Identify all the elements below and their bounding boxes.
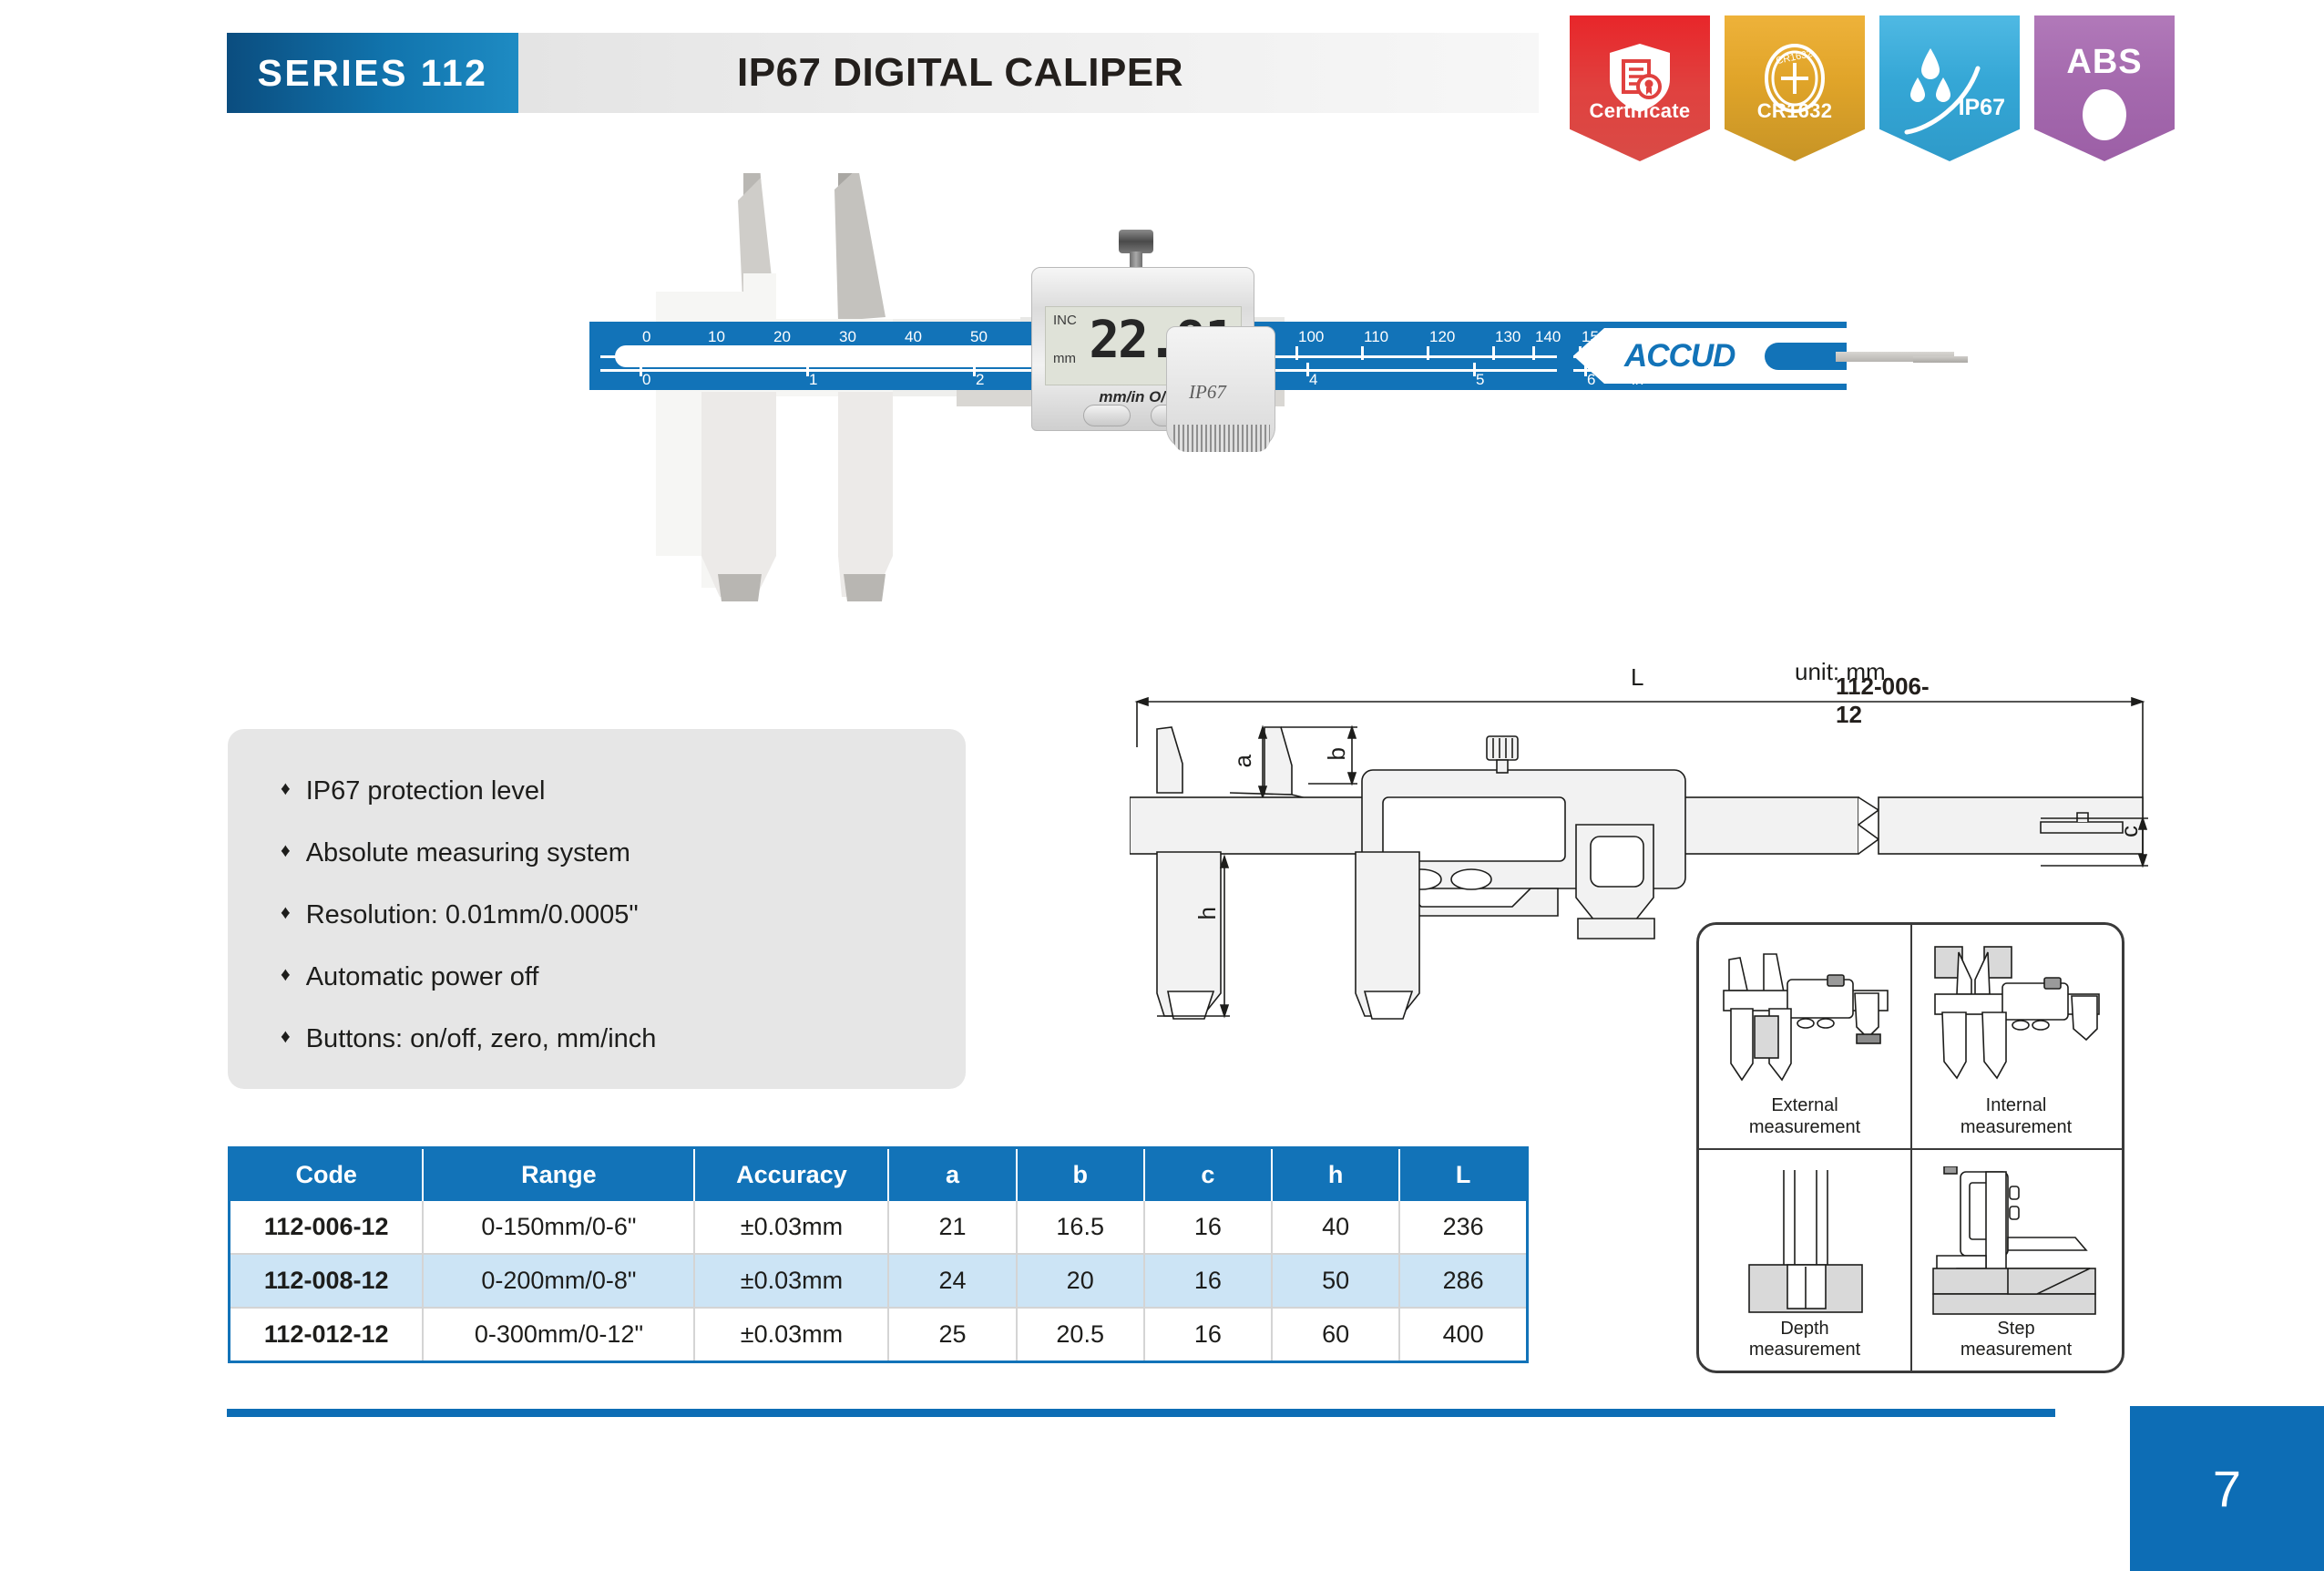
thumb-roller-knurl[interactable] xyxy=(1173,425,1270,452)
internal-measurement: Internalmeasurement xyxy=(1910,925,2122,1148)
accud-brand-plate: ACCUD xyxy=(1573,328,1847,384)
cell-c: 16 xyxy=(1144,1308,1272,1362)
depth-measurement: Depthmeasurement xyxy=(1699,1148,1910,1371)
page-number: 7 xyxy=(2213,1459,2241,1518)
page-number-box: 7 xyxy=(2130,1406,2324,1571)
cell-accuracy: ±0.03mm xyxy=(694,1254,888,1308)
th-b: b xyxy=(1017,1148,1144,1202)
mode-label-depth: Depthmeasurement xyxy=(1749,1319,1860,1361)
dimension-label-h: h xyxy=(1193,907,1222,919)
cell-c: 16 xyxy=(1144,1201,1272,1254)
bullet-diamond-icon: ♦ xyxy=(281,776,291,802)
dimension-label-c: c xyxy=(2115,826,2144,837)
th-L: L xyxy=(1399,1148,1527,1202)
th-h: h xyxy=(1272,1148,1399,1202)
step-measurement: Stepmeasurement xyxy=(1910,1148,2122,1371)
feature-item: ♦ Automatic power off xyxy=(281,962,966,992)
abs-dot-icon xyxy=(2083,89,2126,140)
feature-text: IP67 protection level xyxy=(306,776,546,806)
feature-text: Absolute measuring system xyxy=(306,838,630,868)
th-code: Code xyxy=(230,1148,424,1202)
lcd-unit-indicator: mm xyxy=(1053,351,1076,366)
specification-table: Code Range Accuracy a b c h L 112-006-12… xyxy=(228,1146,1529,1363)
bullet-diamond-icon: ♦ xyxy=(281,962,291,988)
th-range: Range xyxy=(423,1148,694,1202)
cell-b: 20.5 xyxy=(1017,1308,1144,1362)
lock-screw-knob[interactable] xyxy=(1119,230,1153,253)
title-band: IP67 DIGITAL CALIPER xyxy=(518,33,1539,113)
th-a: a xyxy=(888,1148,1016,1202)
badge-label-certificate: Certificate xyxy=(1570,99,1710,123)
cell-L: 400 xyxy=(1399,1308,1527,1362)
cell-L: 286 xyxy=(1399,1254,1527,1308)
badge-certificate: Certificate xyxy=(1570,15,1710,161)
depth-rod-tip xyxy=(1913,356,1968,363)
badge-label-abs: ABS xyxy=(2066,43,2142,82)
mode-label-external: Externalmeasurement xyxy=(1749,1095,1860,1138)
cell-range: 0-200mm/0-8" xyxy=(423,1254,694,1308)
mode-label-internal: Internalmeasurement xyxy=(1961,1095,2072,1138)
cell-b: 20 xyxy=(1017,1254,1144,1308)
dimension-label-b: b xyxy=(1323,747,1351,760)
cell-range: 0-300mm/0-12" xyxy=(423,1308,694,1362)
accud-logo: ACCUD xyxy=(1624,338,1735,375)
series-tag: SERIES 112 xyxy=(227,33,518,113)
cell-accuracy: ±0.03mm xyxy=(694,1308,888,1362)
lcd-mode-indicator: INC xyxy=(1053,313,1077,328)
badge-cr1632: CR1632 CR1632 xyxy=(1725,15,1865,161)
cell-code: 112-008-12 xyxy=(230,1254,424,1308)
external-measurement: Externalmeasurement xyxy=(1699,925,1910,1148)
cell-a: 21 xyxy=(888,1201,1016,1254)
th-c: c xyxy=(1144,1148,1272,1202)
cell-a: 24 xyxy=(888,1254,1016,1308)
ip67-mark-icon: IP67 xyxy=(1189,381,1226,404)
bullet-diamond-icon: ♦ xyxy=(281,900,291,926)
badge-label-cr1632: CR1632 xyxy=(1725,99,1865,123)
bullet-diamond-icon: ♦ xyxy=(281,1024,291,1050)
feature-text: Resolution: 0.01mm/0.0005" xyxy=(306,900,639,930)
mm-in-button[interactable] xyxy=(1083,405,1131,426)
cell-code: 112-006-12 xyxy=(230,1201,424,1254)
table-row: 112-008-12 0-200mm/0-8" ±0.03mm 24 20 16… xyxy=(230,1254,1528,1308)
cell-range: 0-150mm/0-6" xyxy=(423,1201,694,1254)
certification-badges: Certificate CR1632 CR1632 xyxy=(1570,15,2175,161)
mode-label-step: Stepmeasurement xyxy=(1961,1319,2072,1361)
feature-text: Buttons: on/off, zero, mm/inch xyxy=(306,1024,657,1054)
cell-h: 40 xyxy=(1272,1201,1399,1254)
water-drop-icon xyxy=(1899,41,2000,141)
cell-h: 60 xyxy=(1272,1308,1399,1362)
measurement-modes-panel: Externalmeasurement Internalmeasurement xyxy=(1696,922,2124,1373)
table-row: 112-012-12 0-300mm/0-12" ±0.03mm 25 20.5… xyxy=(230,1308,1528,1362)
table-header-row: Code Range Accuracy a b c h L xyxy=(230,1148,1528,1202)
badge-label-ip67: IP67 xyxy=(1959,95,2005,121)
features-box: ♦ IP67 protection level ♦ Absolute measu… xyxy=(228,729,966,1089)
page-title: IP67 DIGITAL CALIPER xyxy=(737,50,1183,96)
badge-ip67: IP67 xyxy=(1879,15,2020,161)
feature-item: ♦ IP67 protection level xyxy=(281,776,966,806)
cell-h: 50 xyxy=(1272,1254,1399,1308)
feature-item: ♦ Buttons: on/off, zero, mm/inch xyxy=(281,1024,966,1054)
cell-b: 16.5 xyxy=(1017,1201,1144,1254)
bullet-diamond-icon: ♦ xyxy=(281,838,291,864)
caliper-scale-tail: 150 6 mm in ACCUD xyxy=(1573,322,1847,390)
cell-code: 112-012-12 xyxy=(230,1308,424,1362)
cell-accuracy: ±0.03mm xyxy=(694,1201,888,1254)
badge-abs: ABS xyxy=(2034,15,2175,161)
cell-L: 236 xyxy=(1399,1201,1527,1254)
series-label: SERIES 112 xyxy=(258,52,488,95)
feature-text: Automatic power off xyxy=(306,962,539,992)
dimension-label-a: a xyxy=(1229,755,1257,767)
product-photo: 0 10 20 30 40 50 60 70 80 90 100 110 120… xyxy=(565,173,1931,601)
th-accuracy: Accuracy xyxy=(694,1148,888,1202)
cell-c: 16 xyxy=(1144,1254,1272,1308)
table-row: 112-006-12 0-150mm/0-6" ±0.03mm 21 16.5 … xyxy=(230,1201,1528,1254)
feature-item: ♦ Absolute measuring system xyxy=(281,838,966,868)
feature-item: ♦ Resolution: 0.01mm/0.0005" xyxy=(281,900,966,930)
footer-divider xyxy=(227,1409,2055,1417)
dimension-label-L: L xyxy=(1631,663,1643,692)
page-header: SERIES 112 IP67 DIGITAL CALIPER Certific… xyxy=(0,0,2324,150)
cell-a: 25 xyxy=(888,1308,1016,1362)
